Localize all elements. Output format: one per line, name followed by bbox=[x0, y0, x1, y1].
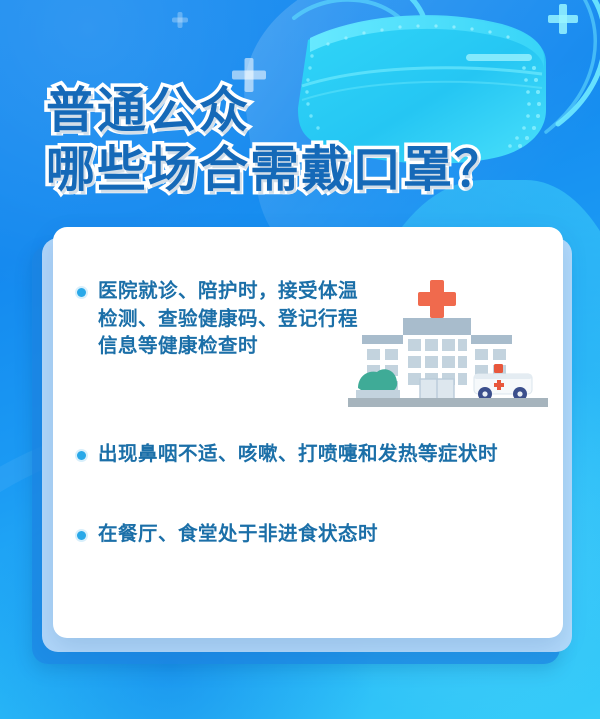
infographic-poster: 普通公众 哪些场合需戴口罩？ 医院就诊、陪护时，接受体温检测、查验健康码、登记行… bbox=[0, 0, 600, 719]
list-item: 出现鼻咽不适、咳嗽、打喷嚏和发热等症状时 bbox=[71, 440, 541, 468]
bullet-text-2: 出现鼻咽不适、咳嗽、打喷嚏和发热等症状时 bbox=[98, 440, 528, 468]
content-card: 医院就诊、陪护时，接受体温检测、查验健康码、登记行程信息等健康检查时 出现鼻咽不… bbox=[53, 227, 563, 638]
poster-title-line-2: 哪些场合需戴口罩？ bbox=[46, 145, 505, 196]
plus-icon-top-right bbox=[548, 4, 578, 34]
bullet-text-3: 在餐厅、食堂处于非进食状态时 bbox=[98, 520, 528, 548]
list-item: 在餐厅、食堂处于非进食状态时 bbox=[71, 520, 541, 548]
hospital-icon bbox=[348, 278, 548, 416]
bullet-dot-icon bbox=[77, 451, 86, 460]
plus-icon-small bbox=[172, 12, 188, 28]
hospital-illustration bbox=[348, 278, 548, 416]
poster-title: 普通公众 哪些场合需戴口罩？ bbox=[46, 86, 505, 196]
poster-title-line-1: 普通公众 bbox=[46, 86, 505, 137]
red-cross-icon bbox=[418, 280, 456, 318]
bullet-dot-icon bbox=[77, 288, 86, 297]
bullet-dot-icon bbox=[77, 531, 86, 540]
bullet-text-1: 医院就诊、陪护时，接受体温检测、查验健康码、登记行程信息等健康检查时 bbox=[98, 277, 362, 360]
